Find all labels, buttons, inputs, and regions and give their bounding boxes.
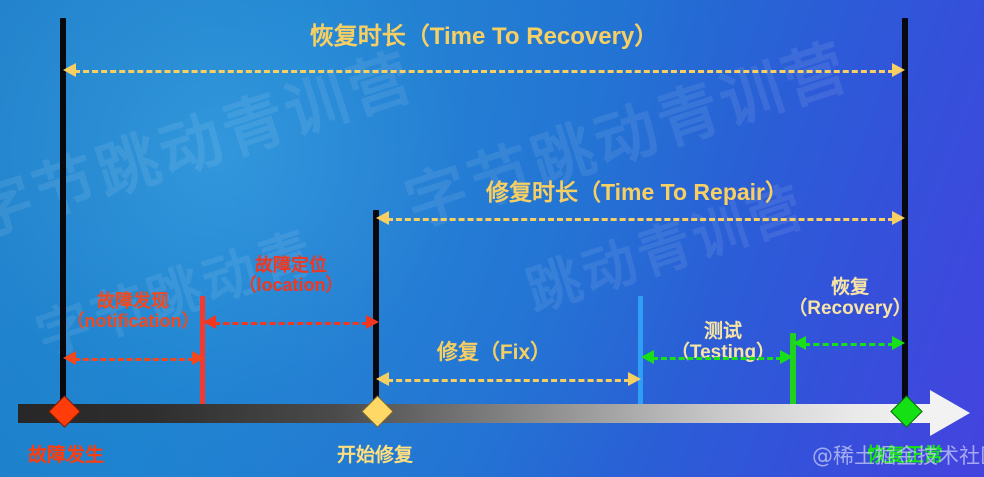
label-location-cn: 故障定位 — [238, 255, 343, 275]
dashed-line — [387, 379, 630, 382]
label-fix-cn: 修复 — [437, 341, 479, 364]
label-time-to-recovery: 恢复时长（Time To Recovery） — [310, 24, 659, 51]
dashed-line — [74, 70, 894, 73]
arrowhead-right-icon — [892, 63, 905, 77]
arrowhead-right-icon — [892, 336, 905, 350]
label-testing-cn: 测试 — [671, 321, 775, 342]
milestone-label-incident-start: 故障发生 — [28, 445, 104, 466]
label-recovery: 恢复 （Recovery） — [788, 277, 912, 320]
arrowhead-right-icon — [192, 351, 205, 365]
label-fix-en: （Fix） — [479, 341, 551, 364]
dashed-line — [804, 343, 894, 346]
milestone-label-repair-start: 开始修复 — [337, 445, 413, 466]
label-notification-cn: 故障发现 — [67, 291, 200, 311]
arrowhead-right-icon — [628, 372, 641, 386]
label-location: 故障定位 （location） — [238, 255, 343, 295]
dashed-line — [652, 357, 782, 360]
timeline-arrowhead-icon — [930, 390, 970, 436]
timeline-axis — [18, 404, 943, 423]
site-credit-watermark: @稀土掘金技术社区 — [812, 440, 984, 470]
arrowhead-right-icon — [892, 211, 905, 225]
label-notification-en: （notification） — [67, 311, 200, 331]
label-fix: 修复（Fix） — [437, 341, 551, 365]
label-notification: 故障发现 （notification） — [67, 291, 200, 331]
dashed-line — [387, 218, 894, 221]
label-recovery-en: （Recovery） — [788, 298, 912, 319]
arrowhead-right-icon — [366, 315, 379, 329]
dashed-line — [214, 322, 368, 325]
label-recovery-cn: 恢复 — [788, 277, 912, 298]
label-time-to-repair: 修复时长（Time To Repair） — [486, 180, 788, 206]
label-location-en: （location） — [238, 275, 343, 295]
dashed-line — [74, 358, 194, 361]
arrowhead-right-icon — [780, 350, 793, 364]
label-testing-en: （Testing） — [671, 342, 775, 363]
diagram-canvas: 字节跳动青训营 字节跳动青训营 跳动青训营 字节跳动青 恢复时长（Time To… — [0, 0, 984, 477]
